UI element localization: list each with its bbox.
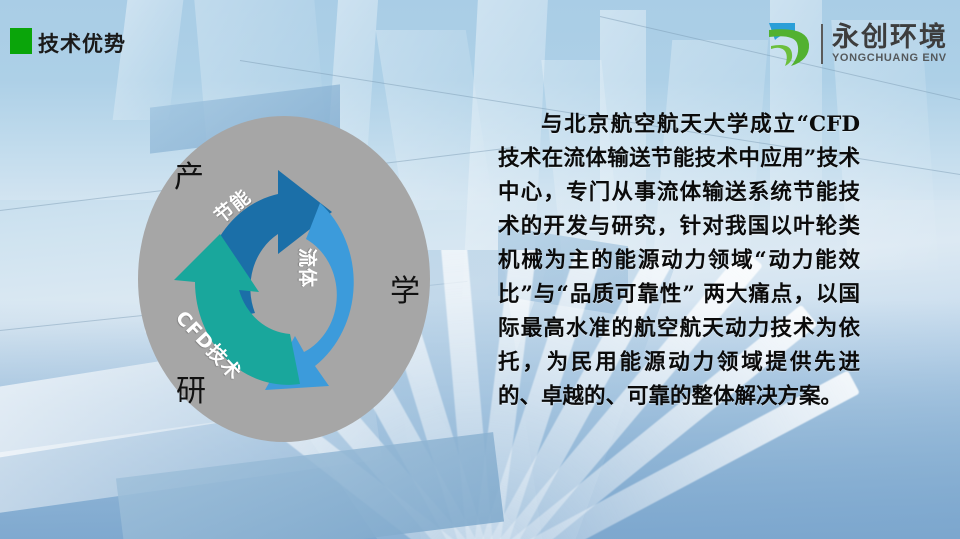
logo-text: 永创环境 YONGCHUANG ENV bbox=[832, 24, 948, 65]
outer-label-xue: 学 bbox=[390, 266, 420, 310]
page-title: 技术优势 bbox=[38, 28, 126, 58]
outer-label-yan: 研 bbox=[176, 366, 206, 410]
brand-logo: 永创环境 YONGCHUANG ENV bbox=[765, 18, 948, 70]
logo-divider bbox=[821, 24, 823, 64]
logo-name-cn: 永创环境 bbox=[832, 24, 948, 52]
cycle-diagram: 节能 流体 CFD技术 产 学 研 bbox=[132, 108, 442, 448]
header-accent-marker bbox=[10, 28, 32, 54]
slide-canvas: 技术优势 永创环境 YONGCHUANG ENV 节能 流体 CFD bbox=[0, 0, 960, 539]
logo-mark-icon bbox=[765, 20, 817, 68]
segment-label-liuti: 流体 bbox=[295, 248, 322, 288]
logo-name-en: YONGCHUANG ENV bbox=[832, 52, 948, 64]
outer-label-chan: 产 bbox=[174, 152, 204, 196]
body-paragraph: 与北京航空航天大学成立“CFD技术在流体输送节能技术中应用”技术中心，专门从事流… bbox=[498, 108, 860, 414]
